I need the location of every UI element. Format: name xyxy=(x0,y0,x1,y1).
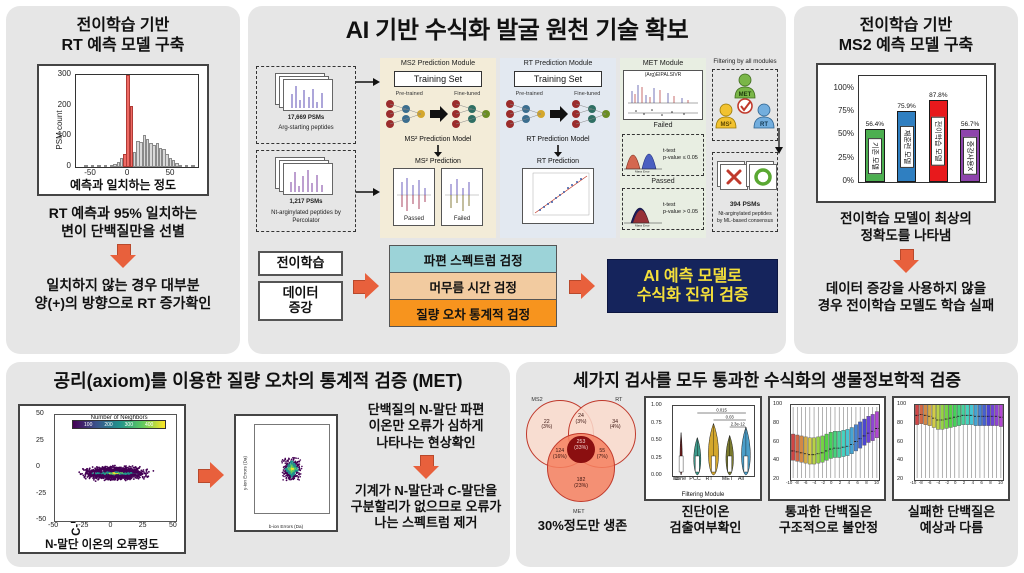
svg-text:0.015: 0.015 xyxy=(716,408,727,413)
accuracy-bar: 75.9%재훈련 모델 xyxy=(897,111,917,182)
ms2-out-failed: Failed xyxy=(442,216,482,224)
violin-x-tick: All xyxy=(738,476,744,482)
center-main-title: AI 기반 수식화 발굴 원천 기술 확보 xyxy=(248,16,786,45)
filtering-module: Filtering by all modules MET MS² xyxy=(712,58,778,238)
flow-arrow-icon xyxy=(356,186,380,198)
filtering-icons-block: MET MS² RT xyxy=(712,69,778,141)
neural-network-icon xyxy=(380,97,496,131)
ms2-failed-card: Failed xyxy=(441,168,483,226)
bar-category-label: 기존 모델 xyxy=(868,138,882,174)
met-passed-label: Passed xyxy=(620,178,706,187)
ms2-module-header: MS2 Prediction Module xyxy=(380,58,496,69)
panel-center-overview: AI 기반 수식화 발굴 원천 기술 확보 17,669 PSMs Arg-st… xyxy=(248,6,786,354)
boxplot-x-tick: 8 xyxy=(989,480,991,485)
panel-met-texts: 단백질의 N-말단 파편 이온만 오류가 심하게 나타나는 현상확인 기계가 N… xyxy=(350,402,502,532)
boxplot-x-tick: -8 xyxy=(795,480,799,485)
bioinfo-caption-violin: 진단이온 검출여부확인 xyxy=(647,504,764,560)
down-arrow-icon xyxy=(433,145,443,157)
scatter2-x-axis-label: b-ion Errors (Da) xyxy=(236,524,336,529)
boxplot-x-tick: -4 xyxy=(936,480,940,485)
boxplot-bars xyxy=(915,405,1003,480)
bioinfo-caption-venn: 30%정도만 생존 xyxy=(524,504,641,560)
panel-met-text-2: 기계가 N-말단과 C-말단을 구분할리가 없으므로 오류가 나는 스펙트럼 제… xyxy=(350,483,502,532)
boxplot-y-tick: 100 xyxy=(897,401,906,407)
svg-text:MET: MET xyxy=(739,92,752,98)
rt-prediction-module: RT Prediction Module Training Set Pre-tr… xyxy=(500,58,616,238)
boxplot-bars xyxy=(791,405,879,480)
panel-ms2-text-1: 전이학습 모델이 최상의 정확도를 나타냄 xyxy=(794,211,1018,245)
verification-flow: 전이학습 데이터 증강 파편 스펙트럼 검정 머무름 시간 검정 질량 오차 통… xyxy=(258,250,778,322)
violin-x-tick: MET xyxy=(722,476,734,482)
panel-met-title: 공리(axiom)를 이용한 질량 오차의 통계적 검증 (MET) xyxy=(6,371,510,393)
met-peptide-label: (Arg)EIPALSIVR xyxy=(624,72,702,78)
boxplot-y-tick: 20 xyxy=(897,476,903,482)
bioinfo-captions: 30%정도만 생존 진단이온 검출여부확인 통과한 단백질은 구조적으로 불안정… xyxy=(524,504,1010,560)
bioinfo-caption-passed: 통과한 단백질은 구조적으로 불안정 xyxy=(770,504,887,560)
violin-x-tick: RT xyxy=(706,476,713,482)
scatter-x-tick: -50 xyxy=(48,522,58,529)
scatter-x-tick: -25 xyxy=(78,522,88,529)
venn-set-label: MS2 xyxy=(531,397,542,403)
boxplot-x-tick: 0 xyxy=(954,480,956,485)
met-module-header: MET Module xyxy=(620,58,706,69)
violin-y-tick: 1.00 xyxy=(651,402,662,408)
mirror-spectrum-icon xyxy=(394,173,434,217)
panel-rt-text-1: RT 예측과 95% 일치하는 변이 단백질만을 선별 xyxy=(6,205,240,240)
venn-region-value: 182(23%) xyxy=(570,478,592,489)
input-set-2-desc-2: Percolator xyxy=(257,218,355,226)
venn-region-value: 124(16%) xyxy=(549,449,571,460)
scatter-y-tick: 25 xyxy=(36,437,44,444)
histogram-bar xyxy=(97,165,100,167)
histogram-x-axis-label: 예측과 일치하는 정도 xyxy=(39,176,207,193)
panel-ms2-text-2: 데이터 증강을 사용하지 않을 경우 전이학습 모델도 학습 실패 xyxy=(794,281,1018,315)
bar-value-label: 56.4% xyxy=(866,121,884,128)
filtering-result-desc-1: Nt-arginylated peptides xyxy=(713,211,777,218)
boxplot-x-tick: 6 xyxy=(856,480,858,485)
boxplot-x-tick: -6 xyxy=(928,480,932,485)
right-arrow-icon xyxy=(569,273,595,299)
boxplot-x-tick: -2 xyxy=(945,480,949,485)
boxplot-y-tick: 80 xyxy=(773,420,779,426)
violin-x-tick: PCC xyxy=(689,476,701,482)
boxplot-y-tick: 40 xyxy=(773,457,779,463)
flow-test-met: 질량 오차 통계적 검정 xyxy=(390,300,556,326)
met-passed-test: t-test xyxy=(663,202,698,209)
rt-module-header: RT Prediction Module xyxy=(500,58,616,69)
histogram-bar xyxy=(104,165,107,167)
barchart-y-tick: 50% xyxy=(826,129,854,138)
violin-plot: Diagnostic ion intensity % 0.0150.032.3e… xyxy=(644,396,762,501)
flow-arrow-icon xyxy=(356,76,380,88)
boxplot-x-tick: -4 xyxy=(812,480,816,485)
histogram-bar xyxy=(91,165,94,167)
mirror-spectrum-icon xyxy=(442,173,482,217)
ms2-accuracy-barchart: 예측과 일치하는 정도 56.4%기존 모델75.9%재훈련 모델87.8%전이… xyxy=(816,63,996,203)
boxplot-y-tick: 20 xyxy=(773,476,779,482)
scatter-icon xyxy=(523,169,593,223)
rt-prediction-label: RT Prediction xyxy=(500,158,616,165)
down-arrow-icon xyxy=(893,249,919,273)
panel-rt-text-2: 일치하지 않는 경우 대부분 양(+)의 방향으로 RT 증가확인 xyxy=(6,277,240,312)
scatter-y-tick: -50 xyxy=(36,516,46,523)
bar-value-label: 56.7% xyxy=(961,121,979,128)
ms2-prediction-label: MS² Prediction xyxy=(380,158,496,165)
input-set-1-desc: Arg-starting peptides xyxy=(257,125,355,133)
met-failed-p: p-value ≤ 0.05 xyxy=(663,155,698,162)
histogram-y-tick: 0 xyxy=(47,161,71,170)
met-failed-test: t-test xyxy=(663,148,698,155)
violin-y-tick: 0.25 xyxy=(651,455,662,461)
histogram-y-tick: 300 xyxy=(47,69,71,78)
boxplot-y-tick: 100 xyxy=(773,401,782,407)
workflow-diagram: 17,669 PSMs Arg-starting peptides 1,217 … xyxy=(256,58,778,238)
bioinfo-figures: 22(3%)24(3%)34(4%)124(16%)55(7%)182(23%)… xyxy=(524,396,1010,501)
svg-text:RT: RT xyxy=(760,122,768,128)
scatter-x-axis-label: N-말단 이온의 오류정도 xyxy=(20,536,184,552)
violin-y-tick: 0.50 xyxy=(651,437,662,443)
bar-category-label: 재훈련 모델 xyxy=(900,126,914,168)
histogram-x-tick: -50 xyxy=(84,168,96,177)
boxplot-x-tick: 6 xyxy=(980,480,982,485)
boxplot-y-tick: 60 xyxy=(773,439,779,445)
boxplot-x-tick: 0 xyxy=(830,480,832,485)
annotated-spectrum-icon xyxy=(624,79,702,119)
accuracy-bar: 56.7%증강사용X xyxy=(960,129,980,182)
venn-region-value: 22(3%) xyxy=(536,420,558,431)
panel-rt-title: 전이학습 기반 RT 예측 모델 구축 xyxy=(6,16,240,55)
rt-residual-histogram: PSM count 예측과 일치하는 정도 0100200300-50050 xyxy=(37,64,209,196)
venn-region-value: 253(33%) xyxy=(570,440,592,451)
rt-training-set: Training Set xyxy=(514,71,602,87)
histogram-y-tick: 200 xyxy=(47,100,71,109)
scatter-y-tick: 0 xyxy=(36,463,40,470)
barchart-plot-area: 56.4%기존 모델75.9%재훈련 모델87.8%전이학습 모델56.7%증강… xyxy=(858,75,987,183)
met-module: MET Module (Arg)EIPALSIVR xyxy=(620,58,706,238)
ms2-passed-card: Passed xyxy=(393,168,435,226)
svg-text:0.03: 0.03 xyxy=(726,415,735,420)
met-spectrum-card: (Arg)EIPALSIVR xyxy=(623,70,703,120)
accuracy-bar: 87.8%전이학습 모델 xyxy=(929,100,949,182)
down-arrow-icon xyxy=(553,145,563,157)
boxplot-y-tick: 60 xyxy=(897,439,903,445)
flow-box-transfer-learning: 전이학습 xyxy=(258,251,343,276)
filtering-header: Filtering by all modules xyxy=(712,58,778,69)
barchart-y-tick: 0% xyxy=(826,176,854,185)
bar-value-label: 87.8% xyxy=(929,92,947,99)
histogram-bar xyxy=(130,106,133,167)
input-set-2-count: 1,217 PSMs xyxy=(257,199,355,207)
consensus-icons: MET MS² RT xyxy=(713,70,777,140)
scatter2-y-axis-label: y-ion Errors (Da) xyxy=(242,456,247,490)
met-passed-p: p-value > 0.05 xyxy=(663,209,698,216)
flow-box-data-augmentation: 데이터 증강 xyxy=(258,281,343,321)
distribution-icon: Mass Error xyxy=(623,137,663,173)
flow-tests-stack: 파편 스펙트럼 검정 머무름 시간 검정 질량 오차 통계적 검정 xyxy=(389,245,557,327)
boxplot-x-tick: -10 xyxy=(910,480,916,485)
boxplot-x-tick: 10 xyxy=(998,480,1003,485)
green-circle-icon xyxy=(750,165,776,189)
flow-test-spectrum: 파편 스펙트럼 검정 xyxy=(390,246,556,273)
histogram-bar xyxy=(84,165,87,167)
boxplot-x-tick: -6 xyxy=(804,480,808,485)
histogram-y-tick: 100 xyxy=(47,130,71,139)
venn-region-value: 24(3%) xyxy=(570,414,592,425)
bar-category-label: 증강사용X xyxy=(963,136,977,174)
filtering-result-desc-2: by ML-based consensus xyxy=(713,218,777,225)
histogram-plot-area xyxy=(75,74,199,168)
flow-test-rt: 머무름 시간 검정 xyxy=(390,273,556,300)
barchart-y-tick: 100% xyxy=(826,83,854,92)
passed-boxplot-area xyxy=(790,404,880,481)
bar-value-label: 75.9% xyxy=(897,103,915,110)
scatter-x-tick: 25 xyxy=(139,522,147,529)
panel-ms2-prediction-model: 전이학습 기반 MS2 예측 모델 구축 예측과 일치하는 정도 56.4%기존… xyxy=(794,6,1018,354)
rt-correlation-plot xyxy=(522,168,594,224)
histogram-bar xyxy=(178,165,181,167)
scatter-points xyxy=(55,415,176,521)
right-arrow-icon xyxy=(353,273,379,299)
boxplot-x-tick: 8 xyxy=(865,480,867,485)
bar-category-label: 전이학습 모델 xyxy=(931,117,945,166)
scatter-y-tick: 50 xyxy=(36,410,44,417)
boxplot-x-tick: 2 xyxy=(963,480,965,485)
svg-text:2.3e-12: 2.3e-12 xyxy=(731,422,746,427)
venn-region-value: 55(7%) xyxy=(591,449,613,460)
spectrum-icon xyxy=(284,80,332,110)
mass-error-scatter-zoom: b-ion Errors (Da) y-ion Errors (Da) xyxy=(234,414,338,532)
boxplot-y-tick: 80 xyxy=(897,420,903,426)
boxplot-y-tick: 40 xyxy=(897,457,903,463)
flow-result-box: AI 예측 모델로 수식화 진위 검증 xyxy=(607,259,778,313)
boxplot-x-tick: 4 xyxy=(848,480,850,485)
svg-text:Mass Error: Mass Error xyxy=(635,224,650,228)
panel-bioinformatic-validation: 세가지 검사를 모두 통과한 수식화의 생물정보학적 검증 22(3%)24(3… xyxy=(516,362,1018,567)
histogram-bar xyxy=(191,165,194,167)
venn-diagram: 22(3%)24(3%)34(4%)124(16%)55(7%)182(23%)… xyxy=(524,396,638,501)
input-set-2: 1,217 PSMs Nt-arginylated peptides by Pe… xyxy=(256,150,356,232)
check-circle-icon xyxy=(738,99,752,113)
rt-person-icon: RT xyxy=(754,104,774,128)
violin-plot-area: 0.0150.032.3e-12 xyxy=(672,405,755,477)
down-arrow-icon xyxy=(774,128,784,154)
scatter-zoom-points xyxy=(255,425,329,513)
ms2-training-set: Training Set xyxy=(394,71,482,87)
flow-left-stack: 전이학습 데이터 증강 xyxy=(258,251,343,321)
ms2-model-label: MS² Prediction Model xyxy=(380,136,496,143)
distribution-icon: Mass Error xyxy=(623,191,663,227)
input-set-1-count: 17,669 PSMs xyxy=(257,115,355,123)
mass-error-scatter: C-말단 이온의 오류정도 Number of Neighbors 100200… xyxy=(18,404,186,554)
boxplot-x-tick: 10 xyxy=(874,480,879,485)
neural-network-icon xyxy=(500,97,616,131)
venn-region-value: 34(4%) xyxy=(604,420,626,431)
spectrum-icon xyxy=(284,164,332,194)
down-arrow-icon xyxy=(110,244,136,268)
scatter-plot-area: Number of Neighbors 100200300400 xyxy=(54,414,177,522)
svg-text:MS²: MS² xyxy=(721,121,732,128)
scatter-x-tick: 50 xyxy=(169,522,177,529)
violin-x-tick: None xyxy=(673,476,686,482)
panel-bioinfo-title: 세가지 검사를 모두 통과한 수식화의 생물정보학적 검증 xyxy=(516,371,1018,392)
red-x-icon xyxy=(721,165,747,189)
violin-y-tick: 0.00 xyxy=(651,472,662,478)
panel-rt-prediction-model: 전이학습 기반 RT 예측 모델 구축 PSM count 예측과 일치하는 정… xyxy=(6,6,240,354)
violin-y-tick: 0.75 xyxy=(651,420,662,426)
boxplot-x-tick: 2 xyxy=(839,480,841,485)
boxplot-x-tick: -10 xyxy=(786,480,792,485)
bioinfo-caption-failed: 실패한 단백질은 예상과 다름 xyxy=(893,504,1010,560)
ms2-person-icon: MS² xyxy=(716,104,736,128)
met-failed-label: Failed xyxy=(620,122,706,131)
failed-protein-boxplot: 20406080100-10-8-6-4-20246810 xyxy=(892,396,1010,501)
scatter-x-tick: 0 xyxy=(109,522,113,529)
filtering-result-count: 394 PSMs xyxy=(713,201,777,209)
histogram-x-tick: 0 xyxy=(125,168,129,177)
input-set-1: 17,669 PSMs Arg-starting peptides xyxy=(256,66,356,144)
boxplot-x-tick: 4 xyxy=(972,480,974,485)
barchart-y-tick: 25% xyxy=(826,153,854,162)
barchart-y-tick: 75% xyxy=(826,106,854,115)
failed-boxplot-area xyxy=(914,404,1004,481)
met-person-icon: MET xyxy=(735,74,755,98)
input-set-2-desc-1: Nt-arginylated peptides by xyxy=(257,210,355,218)
met-failed-block: Mass Error t-test p-value ≤ 0.05 xyxy=(622,134,704,176)
panel-ms2-title: 전이학습 기반 MS2 예측 모델 구축 xyxy=(794,16,1018,55)
boxplot-x-tick: -8 xyxy=(919,480,923,485)
ms2-prediction-module: MS2 Prediction Module Training Set Pre-t… xyxy=(380,58,496,238)
ms2-out-passed: Passed xyxy=(394,216,434,224)
panel-met-axiom: 공리(axiom)를 이용한 질량 오차의 통계적 검증 (MET) C-말단 … xyxy=(6,362,510,567)
met-passed-block: Mass Error t-test p-value > 0.05 xyxy=(622,188,704,230)
filtering-result-block: 394 PSMs Nt-arginylated peptides by ML-b… xyxy=(712,152,778,232)
accuracy-bar: 56.4%기존 모델 xyxy=(865,129,885,182)
violin-shapes: 0.0150.032.3e-12 xyxy=(673,406,754,476)
svg-text:Mass Error: Mass Error xyxy=(635,170,650,174)
histogram-x-tick: 50 xyxy=(166,168,175,177)
right-arrow-icon xyxy=(198,462,224,488)
down-arrow-icon xyxy=(413,455,439,479)
histogram-bar xyxy=(185,165,188,167)
venn-set-label: RT xyxy=(615,397,622,403)
rt-model-label: RT Prediction Model xyxy=(500,136,616,143)
passed-protein-boxplot: 20406080100-10-8-6-4-20246810 xyxy=(768,396,886,501)
scatter-y-tick: -25 xyxy=(36,490,46,497)
violin-x-axis-label: Filtering Module xyxy=(646,492,760,498)
panel-met-text-1: 단백질의 N-말단 파편 이온만 오류가 심하게 나타나는 현상확인 xyxy=(350,402,502,451)
boxplot-x-tick: -2 xyxy=(821,480,825,485)
